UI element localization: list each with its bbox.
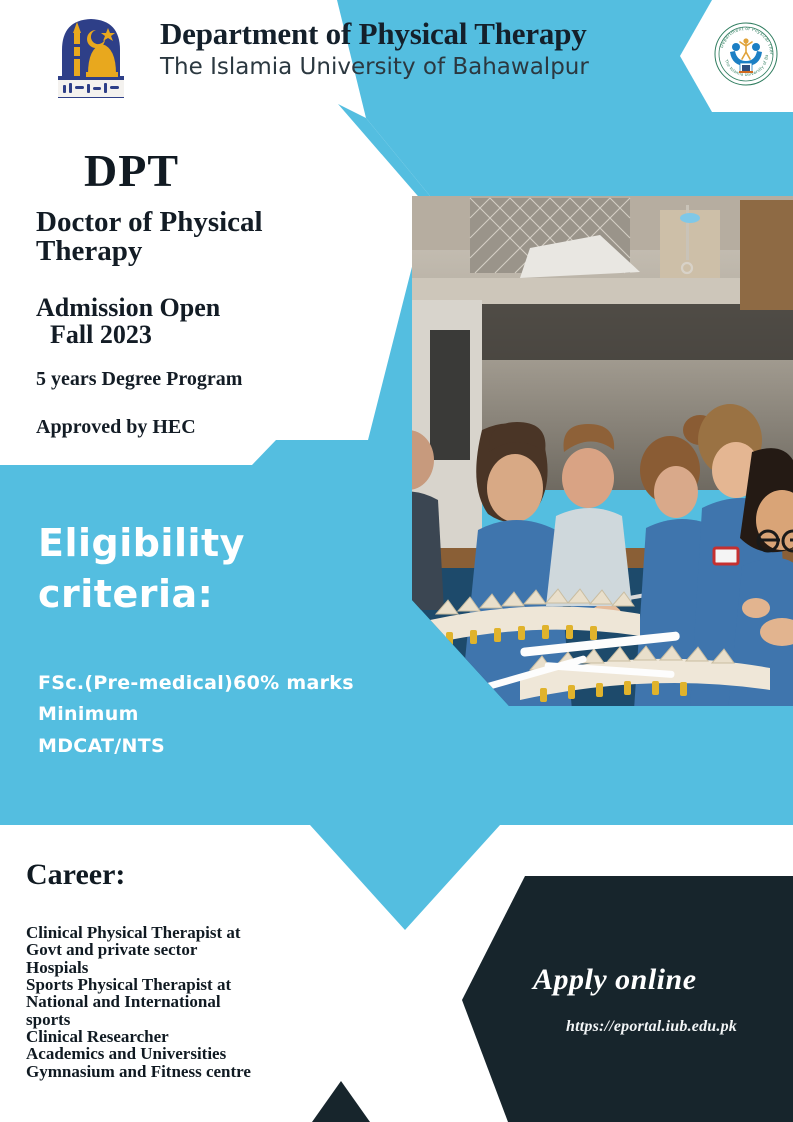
list-item: Hospials xyxy=(26,959,386,976)
list-item: MDCAT/NTS xyxy=(38,731,438,762)
degree-line-1: Doctor of Physical xyxy=(36,208,336,237)
eligibility-heading: Eligibility criteria: xyxy=(38,518,368,621)
list-item: sports xyxy=(26,1011,386,1028)
list-item: Minimum xyxy=(38,699,438,730)
program-duration: 5 years Degree Program xyxy=(36,368,242,391)
list-item: National and International xyxy=(26,993,386,1010)
eligibility-heading-line-1: Eligibility xyxy=(38,518,368,569)
header-text-group: Department of Physical Therapy The Islam… xyxy=(160,18,680,81)
program-abbreviation: DPT xyxy=(84,148,179,194)
degree-line-2: Therapy xyxy=(36,237,336,266)
list-item: Clinical Physical Therapist at xyxy=(26,924,386,941)
admission-line-2: Fall 2023 xyxy=(36,321,346,348)
photo-side-blue-wedge xyxy=(368,196,509,706)
list-item: Academics and Universities xyxy=(26,1045,386,1062)
career-heading: Career: xyxy=(26,858,125,892)
apply-online-url[interactable]: https://eportal.iub.edu.pk xyxy=(519,1018,784,1036)
list-item: Sports Physical Therapist at xyxy=(26,976,386,993)
admission-status: Admission Open Fall 2023 xyxy=(36,294,346,349)
iub-mosque-crest-logo xyxy=(52,14,130,102)
list-item: Govt and private sector xyxy=(26,941,386,958)
eligibility-heading-line-2: criteria: xyxy=(38,569,368,620)
eligibility-criteria-list: FSc.(Pre-medical)60% marks Minimum MDCAT… xyxy=(38,668,438,762)
page-subtitle: The Islamia University of Bahawalpur xyxy=(160,53,680,82)
career-options-list: Clinical Physical Therapist at Govt and … xyxy=(26,924,386,1080)
list-item: Gymnasium and Fitness centre xyxy=(26,1063,386,1080)
program-accreditation: Approved by HEC xyxy=(36,416,196,439)
header-blue-wedge xyxy=(338,104,430,210)
students-spine-model-photo xyxy=(374,190,793,710)
apply-online-panel xyxy=(462,876,793,1122)
list-item: Clinical Researcher xyxy=(26,1028,386,1045)
page-title: Department of Physical Therapy xyxy=(160,18,680,51)
physical-therapy-department-emblem: Department of Physical Therapy The Islam… xyxy=(714,22,778,86)
list-item: FSc.(Pre-medical)60% marks xyxy=(38,668,438,699)
admission-line-1: Admission Open xyxy=(36,294,346,321)
bottom-triangle-accent xyxy=(312,1081,370,1122)
apply-online-heading: Apply online xyxy=(533,963,783,997)
poster-root: Department of Physical Therapy The Islam… xyxy=(0,0,793,1122)
program-degree-title: Doctor of Physical Therapy xyxy=(36,208,336,266)
